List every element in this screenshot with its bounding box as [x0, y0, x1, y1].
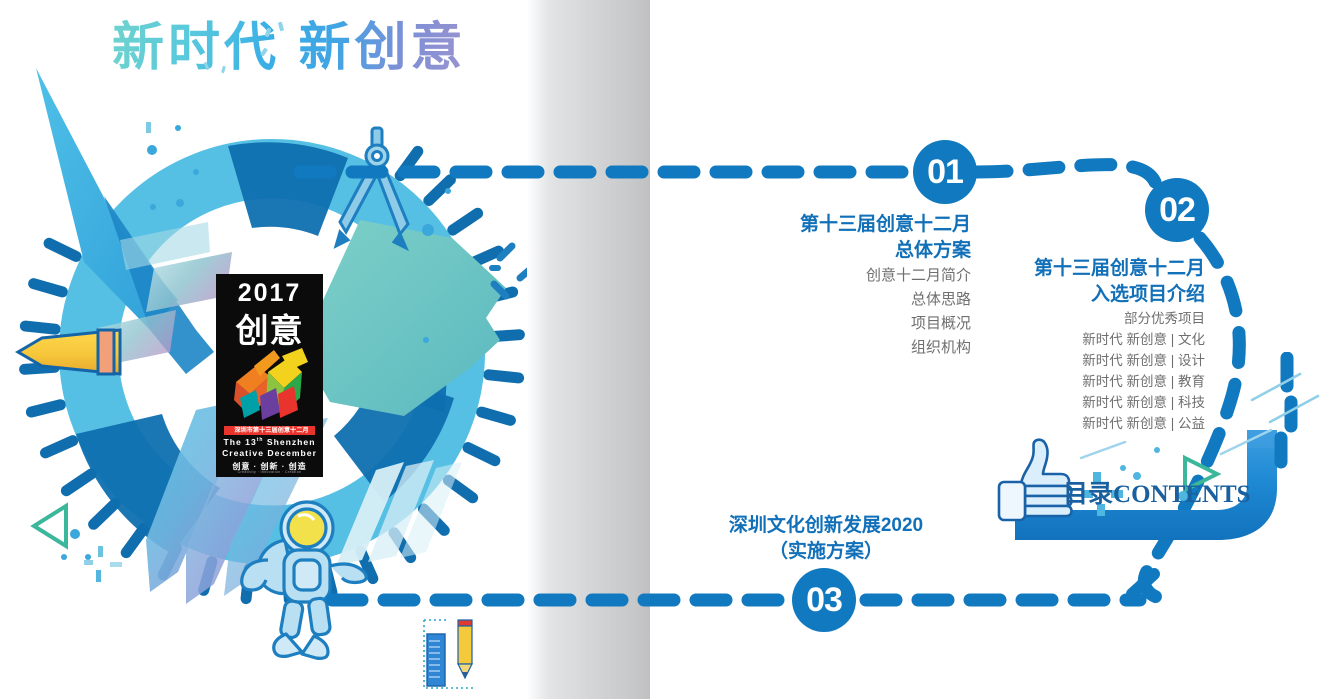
contents-label-en: CONTENTS: [1113, 481, 1251, 508]
contents-label: 目录CONTENTS: [1063, 474, 1251, 510]
section-02-heading-line1: 第十三届创意十二月: [912, 256, 1205, 282]
pipe-dash-accents-lower: [1120, 556, 1240, 676]
right-decor: [1230, 360, 1321, 440]
section-badge-01[interactable]: 01: [913, 140, 977, 204]
section-badge-02[interactable]: 02: [1145, 178, 1209, 242]
section-03-heading-line2: （实施方案）: [680, 539, 972, 565]
slide-canvas: 新时代 新创意 2017 创意 深圳市第十三届创意十二月 The 13th Sh…: [0, 0, 1321, 699]
section-03-heading-line1: 深圳文化创新发展2020: [680, 513, 972, 539]
section-02-items: 部分优秀项目 新时代 新创意 | 文化 新时代 新创意 | 设计 新时代 新创意…: [912, 308, 1205, 434]
thumbs-up-icon: [999, 440, 1072, 520]
section-02-item-1[interactable]: 部分优秀项目: [912, 308, 1205, 329]
section-badge-03[interactable]: 03: [792, 568, 856, 632]
section-01-heading-line1: 第十三届创意十二月: [679, 212, 971, 238]
contents-label-cn: 目录: [1063, 480, 1113, 508]
section-badge-01-label: 01: [927, 153, 963, 192]
section-02-heading-line2: 入选项目介绍: [912, 282, 1205, 308]
section-02-item-5[interactable]: 新时代 新创意 | 科技: [912, 392, 1205, 413]
section-badge-03-label: 03: [806, 581, 842, 620]
section-02-heading: 第十三届创意十二月 入选项目介绍: [912, 256, 1205, 308]
section-02-item-4[interactable]: 新时代 新创意 | 教育: [912, 371, 1205, 392]
section-03-heading: 深圳文化创新发展2020 （实施方案）: [680, 513, 972, 565]
section-02-item-3[interactable]: 新时代 新创意 | 设计: [912, 350, 1205, 371]
section-badge-02-label: 02: [1159, 191, 1195, 230]
section-02-item-2[interactable]: 新时代 新创意 | 文化: [912, 329, 1205, 350]
